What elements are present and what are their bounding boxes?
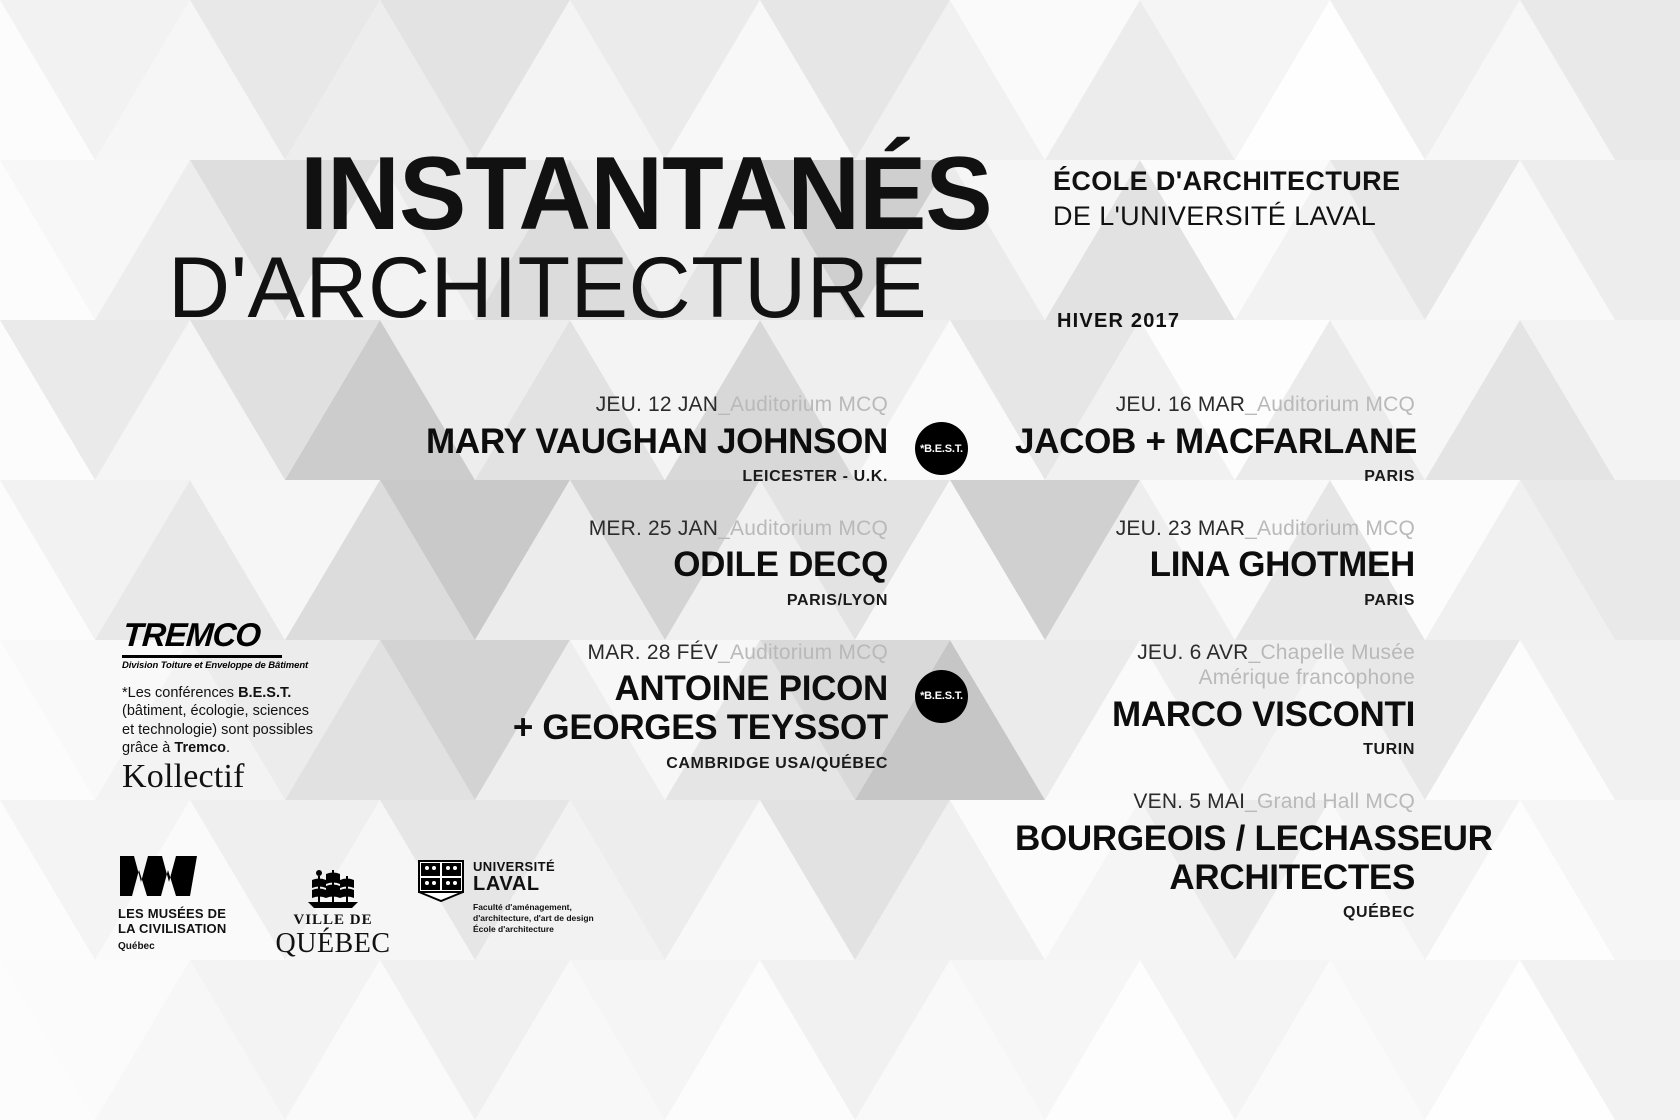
best-footnote-line2: (bâtiment, écologie, sciences (122, 703, 309, 719)
musees-logo-quebec: Québec (118, 941, 248, 952)
event-meta: MER. 25 JAN_Auditorium MCQ (380, 516, 888, 542)
best-footnote-line4-prefix: grâce à (122, 740, 174, 756)
event-item: JEU. 23 MAR_Auditorium MCQ LINA GHOTMEH … (1015, 516, 1415, 610)
event-speaker: JACOB + MACFARLANE (1015, 422, 1415, 461)
best-footnote-line4-suffix: . (226, 740, 230, 756)
event-date: JEU. 23 MAR (1116, 517, 1245, 540)
event-date: JEU. 16 MAR (1116, 393, 1245, 416)
ville-logo-line1: VILLE DE (268, 912, 398, 929)
ville-de-quebec-logo: VILLE DE QUÉBEC (268, 864, 398, 958)
event-meta: MAR. 28 FÉV_Auditorium MCQ (380, 640, 888, 666)
laval-faculty-line3: École d'architecture (473, 924, 594, 935)
event-venue: _Grand Hall MCQ (1245, 790, 1415, 813)
event-venue: _Auditorium MCQ (1245, 517, 1415, 540)
school-name-line2: DE L'UNIVERSITÉ LAVAL (1053, 201, 1400, 232)
event-speaker-line1: BOURGEOIS / LECHASSEUR (1015, 819, 1415, 858)
tremco-logo-wordmark: TREMCO (122, 618, 324, 651)
musees-logo-line2: LA CIVILISATION (118, 922, 248, 937)
best-footnote: *Les conférences B.E.S.T. (bâtiment, éco… (122, 684, 322, 758)
event-venue: _Auditorium MCQ (718, 517, 888, 540)
event-venue: _Auditorium MCQ (1245, 393, 1415, 416)
musees-logo-text: LES MUSÉES DE LA CIVILISATION (118, 907, 248, 936)
events-column-left: JEU. 12 JAN_Auditorium MCQ MARY VAUGHAN … (380, 392, 888, 803)
event-date: MAR. 28 FÉV (588, 641, 719, 664)
event-meta: JEU. 16 MAR_Auditorium MCQ (1015, 392, 1415, 418)
event-speaker: LINA GHOTMEH (1015, 545, 1415, 584)
poster-title-line2: D'ARCHITECTURE (168, 248, 927, 330)
event-date: JEU. 6 AVR (1137, 641, 1248, 664)
event-date: MER. 25 JAN (589, 517, 718, 540)
laval-logo-line2: LAVAL (473, 874, 594, 896)
laval-faculty-text: Faculté d'aménagement, d'architecture, d… (473, 902, 594, 935)
school-name-line1: ÉCOLE D'ARCHITECTURE (1053, 166, 1400, 197)
event-speaker: ODILE DECQ (380, 545, 888, 584)
event-item: JEU. 12 JAN_Auditorium MCQ MARY VAUGHAN … (380, 392, 888, 486)
event-speaker-line1: ANTOINE PICON (380, 669, 888, 708)
laval-shield-icon (418, 860, 464, 902)
universite-laval-logo: UNIVERSITÉ LAVAL Faculté d'aménagement, … (418, 860, 708, 935)
event-speaker: MARY VAUGHAN JOHNSON (380, 422, 888, 461)
event-item: VEN. 5 MAI_Grand Hall MCQ BOURGEOIS / LE… (1015, 789, 1415, 922)
poster-title-line1: INSTANTANÉS (300, 145, 992, 244)
ville-logo-line2: QUÉBEC (268, 929, 398, 958)
best-badge: *B.E.S.T. (915, 670, 968, 723)
laval-logo-text: UNIVERSITÉ LAVAL (473, 860, 594, 896)
partner-logo-row: LES MUSÉES DE LA CIVILISATION Québec VIL… (118, 852, 698, 982)
poster-header: INSTANTANÉS D'ARCHITECTURE ÉCOLE D'ARCHI… (0, 0, 1680, 360)
musees-civilisation-logo: LES MUSÉES DE LA CIVILISATION Québec (118, 852, 248, 952)
event-city: PARIS (1015, 592, 1415, 610)
event-meta: JEU. 12 JAN_Auditorium MCQ (380, 392, 888, 418)
tremco-tagline: Division Toiture et Enveloppe de Bâtimen… (122, 660, 322, 671)
event-venue: _Auditorium MCQ (718, 393, 888, 416)
events-column-right: *B.E.S.T. JEU. 16 MAR_Auditorium MCQ JAC… (1015, 392, 1415, 952)
school-name: ÉCOLE D'ARCHITECTURE DE L'UNIVERSITÉ LAV… (1053, 166, 1400, 232)
best-footnote-line4-bold: Tremco (174, 740, 226, 756)
laval-faculty-line2: d'architecture, d'art de design (473, 913, 594, 924)
best-footnote-line3: et technologie) sont possibles (122, 722, 313, 738)
event-item: MAR. 28 FÉV_Auditorium MCQ ANTOINE PICON… (380, 640, 888, 773)
event-item: *B.E.S.T. JEU. 6 AVR_Chapelle Musée Amér… (1015, 640, 1415, 759)
event-city: PARIS (1015, 468, 1415, 486)
event-item: MER. 25 JAN_Auditorium MCQ ODILE DECQ PA… (380, 516, 888, 610)
tremco-rule (122, 655, 282, 658)
best-footnote-prefix: *Les conférences (122, 685, 238, 701)
best-badge: *B.E.S.T. (915, 422, 968, 475)
event-city: LEICESTER - U.K. (380, 468, 888, 486)
event-speaker-line2: + GEORGES TEYSSOT (380, 708, 888, 747)
musees-zigzag-icon (118, 852, 204, 896)
event-venue: _Chapelle Musée (1249, 641, 1415, 664)
best-footnote-bold: B.E.S.T. (238, 685, 291, 701)
event-speaker: BOURGEOIS / LECHASSEUR ARCHITECTES (1015, 819, 1415, 897)
tremco-sponsor-block: TREMCO Division Toiture et Enveloppe de … (122, 618, 322, 758)
event-date: JEU. 12 JAN (596, 393, 718, 416)
season-label: HIVER 2017 (1057, 310, 1180, 333)
kollectif-logo: Kollectif (122, 758, 245, 796)
event-speaker-line2: ARCHITECTES (1015, 858, 1415, 897)
event-speaker: ANTOINE PICON + GEORGES TEYSSOT (380, 669, 888, 747)
laval-logo-line1: UNIVERSITÉ (473, 860, 594, 874)
event-date: VEN. 5 MAI (1133, 790, 1245, 813)
event-speaker: MARCO VISCONTI (1015, 695, 1415, 734)
laval-faculty-line1: Faculté d'aménagement, (473, 902, 594, 913)
event-item: *B.E.S.T. JEU. 16 MAR_Auditorium MCQ JAC… (1015, 392, 1415, 486)
event-meta: JEU. 23 MAR_Auditorium MCQ (1015, 516, 1415, 542)
event-city: CAMBRIDGE USA/QUÉBEC (380, 755, 888, 773)
event-city: TURIN (1015, 741, 1415, 759)
event-meta: VEN. 5 MAI_Grand Hall MCQ (1015, 789, 1415, 815)
event-city: PARIS/LYON (380, 592, 888, 610)
poster-canvas: INSTANTANÉS D'ARCHITECTURE ÉCOLE D'ARCHI… (0, 0, 1680, 1120)
event-city: QUÉBEC (1015, 904, 1415, 922)
event-meta: JEU. 6 AVR_Chapelle Musée Amérique franc… (1015, 640, 1415, 691)
musees-logo-line1: LES MUSÉES DE (118, 907, 248, 922)
event-venue-line2: Amérique francophone (1015, 665, 1415, 691)
event-venue: _Auditorium MCQ (718, 641, 888, 664)
sailing-ship-icon (302, 864, 364, 910)
